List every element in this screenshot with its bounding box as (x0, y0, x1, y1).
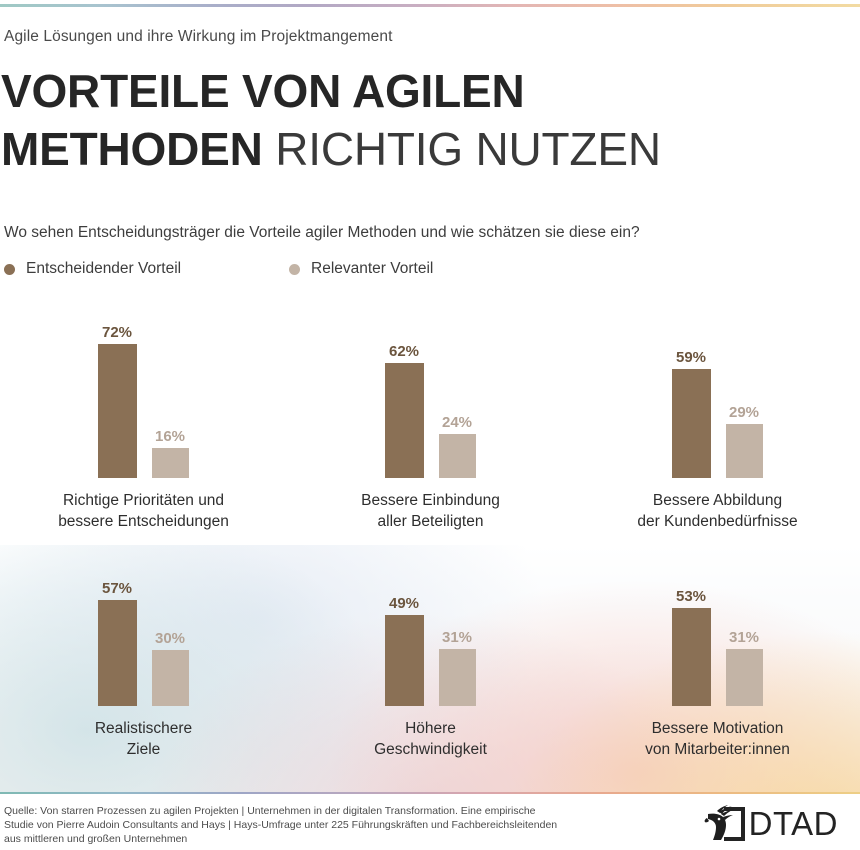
category-label: Bessere Motivation von Mitarbeiter:innen (574, 718, 860, 760)
bar-value-light: 29% (729, 403, 759, 422)
bar-light (726, 424, 763, 478)
bar-light (152, 650, 189, 706)
bar-pair: 72% 16% (0, 318, 287, 478)
footer: Quelle: Von starren Prozessen zu agilen … (0, 800, 860, 850)
chart-row-bottom: 57% 30% Realistischere Ziele 49% 31% (0, 533, 860, 768)
bar-dark (672, 608, 711, 706)
bar-pair: 49% 31% (287, 546, 574, 706)
category-label-line-2: Ziele (0, 739, 287, 760)
category-label-line-1: Richtige Prioritäten und (0, 490, 287, 511)
category-label-line-2: Geschwindigkeit (287, 739, 574, 760)
legend-item-entscheidender-vorteil: Entscheidender Vorteil (4, 260, 289, 278)
bar-value-dark: 49% (389, 594, 419, 613)
bar-value-light: 31% (442, 628, 472, 647)
category-label-line-2: aller Beteiligten (287, 511, 574, 532)
category-label: Bessere Abbildung der Kundenbedürfnisse (574, 490, 860, 532)
category-label-line-2: der Kundenbedürfnisse (574, 511, 860, 532)
category-label-line-1: Realistischere (0, 718, 287, 739)
category-label-line-1: Bessere Motivation (574, 718, 860, 739)
legend-item-relevanter-vorteil: Relevanter Vorteil (289, 260, 433, 278)
bar-cell-dark: 62% (385, 318, 424, 478)
category-label: Richtige Prioritäten und bessere Entsche… (0, 490, 287, 532)
survey-question: Wo sehen Entscheidungsträger die Vorteil… (4, 224, 844, 242)
bar-value-dark: 57% (102, 579, 132, 598)
bar-group-realistischere-ziele: 57% 30% Realistischere Ziele (0, 533, 287, 768)
title-line-1-bold: VORTEILE VON AGILEN (1, 65, 525, 117)
bar-pair: 62% 24% (287, 318, 574, 478)
bar-value-light: 24% (442, 413, 472, 432)
kicker-text: Agile Lösungen und ihre Wirkung im Proje… (0, 28, 860, 46)
legend-label-dark: Entscheidender Vorteil (26, 260, 181, 278)
bar-light (726, 649, 763, 707)
category-label: Realistischere Ziele (0, 718, 287, 760)
bar-cell-light: 31% (438, 546, 477, 706)
bar-dark (98, 600, 137, 706)
chart-row-top: 72% 16% Richtige Prioritäten und bessere… (0, 300, 860, 540)
bar-value-light: 30% (155, 629, 185, 648)
bar-cell-dark: 72% (98, 318, 137, 478)
top-gradient-rule (0, 4, 860, 7)
dtad-bird-logo-icon (704, 804, 748, 844)
bottom-gradient-rule (0, 792, 860, 794)
bar-cell-light: 29% (725, 318, 764, 478)
category-label-line-1: Höhere (287, 718, 574, 739)
dtad-wordmark: DTAD (749, 804, 838, 844)
bar-cell-dark: 57% (98, 546, 137, 706)
bar-cell-light: 31% (725, 546, 764, 706)
source-line-1: Quelle: Von starren Prozessen zu agilen … (4, 804, 624, 818)
title-line-2: METHODEN RICHTIG NUTZEN (1, 120, 860, 178)
bar-cell-dark: 53% (672, 546, 711, 706)
bar-cell-light: 16% (151, 318, 190, 478)
bar-dark (672, 369, 711, 478)
bar-group-hoehere-geschwindigkeit: 49% 31% Höhere Geschwindigkeit (287, 533, 574, 768)
bar-cell-light: 30% (151, 546, 190, 706)
title-line-2-bold: METHODEN (1, 123, 263, 175)
category-label-line-2: bessere Entscheidungen (0, 511, 287, 532)
dtad-logo: DTAD (704, 804, 838, 844)
bar-pair: 53% 31% (574, 546, 860, 706)
category-label-line-1: Bessere Abbildung (574, 490, 860, 511)
title-line-1: VORTEILE VON AGILEN (1, 62, 860, 120)
bar-group-bessere-motivation: 53% 31% Bessere Motivation von Mitarbeit… (574, 533, 860, 768)
source-line-2: Studie von Pierre Audoin Consultants and… (4, 818, 624, 832)
bar-group-bessere-abbildung: 59% 29% Bessere Abbildung der Kundenbedü… (574, 300, 860, 540)
header: Agile Lösungen und ihre Wirkung im Proje… (0, 28, 860, 178)
title-line-2-light: RICHTIG NUTZEN (275, 123, 661, 175)
bar-dark (385, 615, 424, 706)
bar-value-dark: 53% (676, 587, 706, 606)
bar-value-dark: 72% (102, 323, 132, 342)
bar-value-light: 16% (155, 427, 185, 446)
bar-value-dark: 59% (676, 348, 706, 367)
legend-label-light: Relevanter Vorteil (311, 260, 433, 278)
bar-cell-dark: 49% (385, 546, 424, 706)
bar-group-richtige-prioritaeten: 72% 16% Richtige Prioritäten und bessere… (0, 300, 287, 540)
bar-light (439, 434, 476, 479)
bar-cell-light: 24% (438, 318, 477, 478)
bar-value-dark: 62% (389, 342, 419, 361)
bar-dark (385, 363, 424, 478)
legend-dot-icon-light (289, 264, 300, 275)
bar-light (152, 448, 189, 478)
source-line-3: aus mittleren und großen Unternehmen (4, 832, 624, 846)
category-label-line-2: von Mitarbeiter:innen (574, 739, 860, 760)
category-label: Bessere Einbindung aller Beteiligten (287, 490, 574, 532)
source-note: Quelle: Von starren Prozessen zu agilen … (4, 804, 624, 846)
bar-pair: 57% 30% (0, 546, 287, 706)
bar-light (439, 649, 476, 707)
legend-dot-icon-dark (4, 264, 15, 275)
bar-pair: 59% 29% (574, 318, 860, 478)
chart-legend: Entscheidender Vorteil Relevanter Vortei… (4, 260, 604, 278)
bar-group-bessere-einbindung: 62% 24% Bessere Einbindung aller Beteili… (287, 300, 574, 540)
bar-value-light: 31% (729, 628, 759, 647)
category-label-line-1: Bessere Einbindung (287, 490, 574, 511)
bar-dark (98, 344, 137, 478)
category-label: Höhere Geschwindigkeit (287, 718, 574, 760)
page-title: VORTEILE VON AGILEN METHODEN RICHTIG NUT… (0, 62, 860, 178)
bar-cell-dark: 59% (672, 318, 711, 478)
